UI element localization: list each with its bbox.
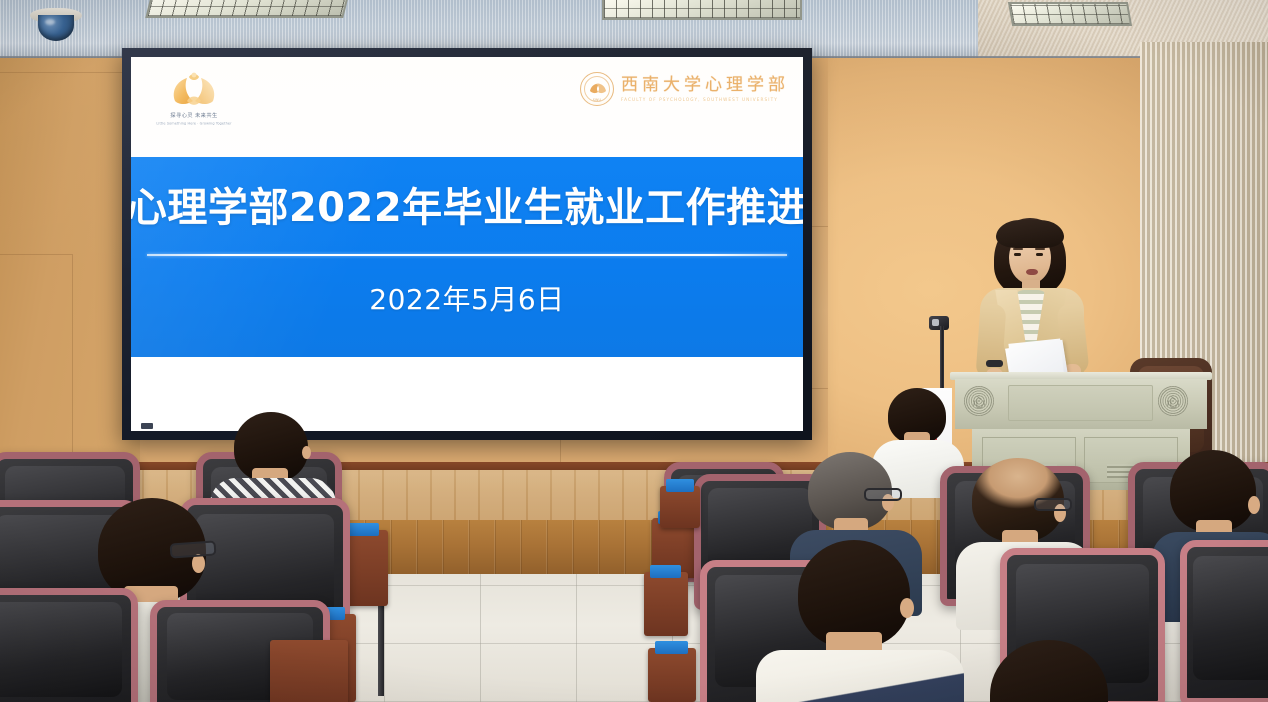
seat-leg bbox=[378, 600, 384, 696]
person-torso bbox=[756, 650, 964, 702]
presenter-eye bbox=[1036, 253, 1043, 256]
projection-screen-frame: 探寻心灵 未来共生 Little Something Here · Growin… bbox=[122, 48, 812, 440]
audience-member bbox=[762, 540, 962, 702]
seat-number-tag bbox=[655, 641, 689, 654]
presenter-fringe bbox=[996, 220, 1064, 248]
microphone-stand bbox=[940, 326, 944, 388]
university-name-english: FACULTY OF PSYCHOLOGY, SOUTHWEST UNIVERS… bbox=[621, 97, 789, 102]
dove-logo: 探寻心灵 未来共生 Little Something Here · Growin… bbox=[153, 71, 235, 133]
camera-dome bbox=[38, 15, 74, 41]
presenter-mouth bbox=[1026, 269, 1038, 275]
eyeglasses bbox=[170, 540, 217, 558]
slide-divider-rule bbox=[147, 254, 787, 256]
slide-title-band: 心理学部2022年毕业生就业工作推进 2022年5月6日 bbox=[131, 157, 803, 357]
lectern-front-inset bbox=[1008, 385, 1153, 421]
ceiling-light-panel bbox=[145, 0, 348, 18]
person-ear bbox=[302, 446, 311, 459]
ceiling-light-panel bbox=[602, 0, 802, 20]
seat-armrest[interactable] bbox=[644, 572, 688, 636]
screen-ir-sensor bbox=[141, 423, 153, 429]
university-name: 西南大学心理学部 bbox=[621, 77, 789, 94]
dove-logo-tagline: 探寻心灵 未来共生 Little Something Here · Growin… bbox=[155, 112, 234, 128]
slide-header: 探寻心灵 未来共生 Little Something Here · Growin… bbox=[131, 57, 803, 155]
seat-number-tag bbox=[666, 479, 694, 492]
presenter-eyebrow bbox=[1035, 248, 1045, 250]
ceiling-light-panel bbox=[1008, 2, 1132, 26]
lectern-emblem bbox=[964, 386, 994, 416]
university-seal-icon: SWU bbox=[580, 72, 614, 106]
seat-number-tag bbox=[650, 565, 681, 578]
person-ear bbox=[1248, 496, 1260, 514]
dove-icon bbox=[165, 71, 223, 111]
presenter-wristwatch bbox=[986, 360, 1003, 367]
person-ear bbox=[900, 598, 914, 618]
dome-security-camera bbox=[30, 8, 82, 42]
podium-area bbox=[930, 200, 1268, 490]
university-emblem-logo: SWU 西南大学心理学部 FACULTY OF PSYCHOLOGY, SOUT… bbox=[580, 69, 789, 109]
seat-armrest[interactable] bbox=[270, 640, 348, 702]
auditorium-seat[interactable] bbox=[0, 588, 138, 702]
emblem-arc-text: SWU bbox=[581, 98, 613, 102]
eyeglasses bbox=[864, 488, 902, 501]
audience-member bbox=[972, 640, 1132, 702]
slide-title: 心理学部2022年毕业生就业工作推进 bbox=[131, 188, 803, 228]
seat-armrest[interactable] bbox=[660, 486, 700, 528]
left-wall bbox=[0, 58, 140, 478]
projection-screen: 探寻心灵 未来共生 Little Something Here · Growin… bbox=[131, 57, 803, 431]
auditorium-seat[interactable] bbox=[1180, 540, 1268, 702]
presenter bbox=[972, 218, 1102, 378]
presentation-slide: 探寻心灵 未来共生 Little Something Here · Growin… bbox=[131, 57, 803, 431]
lectern-emblem bbox=[1158, 386, 1188, 416]
auditorium-photo: 探寻心灵 未来共生 Little Something Here · Growin… bbox=[0, 0, 1268, 702]
seat-armrest[interactable] bbox=[648, 648, 696, 702]
presenter-eye bbox=[1014, 253, 1021, 256]
microphone-head-icon bbox=[929, 316, 949, 330]
slide-date: 2022年5月6日 bbox=[369, 278, 564, 318]
eyeglasses bbox=[1034, 498, 1072, 511]
presenter-eyebrow bbox=[1013, 248, 1023, 250]
person-head bbox=[990, 640, 1108, 702]
